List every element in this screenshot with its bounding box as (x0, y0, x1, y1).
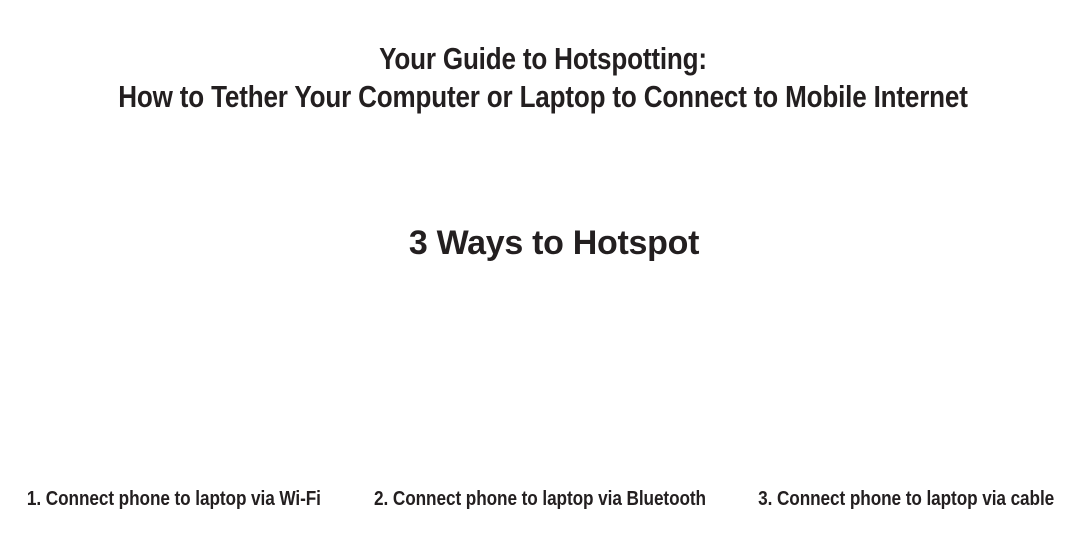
title-line-2: How to Tether Your Computer or Laptop to… (87, 78, 999, 116)
method-caption-3: 3. Connect phone to laptop via cable (733, 486, 1080, 516)
method-caption-row: 1. Connect phone to laptop via Wi-Fi 2. … (0, 486, 1080, 516)
section-heading: 3 Ways to Hotspot (0, 222, 1080, 264)
cable-tether-illustration (720, 285, 1080, 475)
method-caption-2-text: 2. Connect phone to laptop via Bluetooth (374, 486, 706, 512)
method-caption-1-text: 1. Connect phone to laptop via Wi-Fi (27, 486, 321, 512)
illustration-band (0, 285, 1080, 475)
page-title: Your Guide to Hotspotting: How to Tether… (0, 40, 1080, 116)
method-caption-2: 2. Connect phone to laptop via Bluetooth (347, 486, 733, 516)
method-caption-3-text: 3. Connect phone to laptop via cable (758, 486, 1054, 512)
title-line-1: Your Guide to Hotspotting: (87, 40, 999, 78)
wifi-tether-illustration (0, 285, 360, 475)
method-caption-1: 1. Connect phone to laptop via Wi-Fi (0, 486, 347, 516)
infographic-canvas: Your Guide to Hotspotting: How to Tether… (0, 0, 1080, 552)
bluetooth-tether-illustration (360, 285, 720, 475)
